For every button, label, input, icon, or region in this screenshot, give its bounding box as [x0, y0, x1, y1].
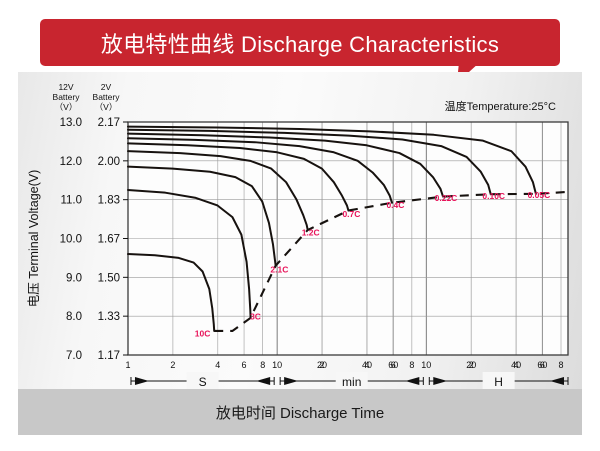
- rate-label-0.4C: 0.4C: [386, 200, 404, 210]
- y-tick-label-2v: 1.67: [98, 234, 120, 246]
- unit-arrow-right: [550, 377, 564, 385]
- y-tick-label-12v: 12.0: [60, 156, 82, 168]
- temperature-annotation: 温度Temperature:25°C: [445, 99, 556, 113]
- y-tick-label-2v: 1.33: [98, 311, 120, 323]
- x-tick-label: 8: [409, 360, 414, 370]
- y-header-2v: 2V: [101, 82, 112, 92]
- y-tick-label-12v: 8.0: [66, 311, 82, 323]
- x-tick-label: 2: [469, 360, 474, 370]
- discharge-chart-svg: 13.02.1712.02.0011.01.8310.01.679.01.508…: [18, 72, 582, 389]
- x-unit-label: S: [199, 375, 207, 389]
- y-header-12v: 12V: [58, 82, 73, 92]
- x-tick-label: 10: [272, 360, 282, 370]
- rate-label-0.10C: 0.10C: [482, 191, 505, 201]
- unit-arrow-right: [405, 377, 419, 385]
- unit-arrow-right: [256, 377, 270, 385]
- y-tick-label-12v: 13.0: [60, 117, 82, 129]
- y-header-2v: Battery: [93, 92, 121, 102]
- x-tick-label: 6: [391, 360, 396, 370]
- y-tick-label-2v: 1.17: [98, 350, 120, 362]
- x-tick-label: 8: [558, 360, 563, 370]
- rate-label-3C: 3C: [250, 311, 261, 321]
- x-tick-label: 10: [421, 360, 431, 370]
- title-banner: 放电特性曲线 Discharge Characteristics: [40, 19, 560, 66]
- unit-arrow-left: [433, 377, 447, 385]
- y-tick-label-2v: 2.00: [98, 156, 120, 168]
- x-unit-label: H: [494, 375, 503, 389]
- unit-arrow-left: [135, 377, 149, 385]
- rate-label-2.1C: 2.1C: [270, 265, 288, 275]
- x-tick-label: 4: [215, 360, 220, 370]
- x-tick-label: 6: [242, 360, 247, 370]
- x-unit-label: min: [342, 375, 361, 389]
- y-tick-label-2v: 1.50: [98, 272, 120, 284]
- y-tick-label-2v: 2.17: [98, 117, 120, 129]
- x-tick-label: 4: [514, 360, 519, 370]
- rate-label-10C: 10C: [195, 328, 211, 338]
- x-tick-label: 6: [540, 360, 545, 370]
- x-axis-title: 放电时间 Discharge Time: [216, 402, 384, 423]
- y-tick-label-12v: 11.0: [60, 195, 82, 207]
- page-title: 放电特性曲线 Discharge Characteristics: [40, 19, 560, 66]
- rate-label-1.2C: 1.2C: [302, 227, 320, 237]
- rate-label-0.22C: 0.22C: [435, 193, 458, 203]
- chart-panel: 13.02.1712.02.0011.01.8310.01.679.01.508…: [18, 72, 582, 389]
- rate-label-0.7C: 0.7C: [342, 209, 360, 219]
- y-tick-label-2v: 1.83: [98, 195, 120, 207]
- y-header-12v: Battery: [53, 92, 81, 102]
- discharge-characteristics-figure: 放电特性曲线 Discharge Characteristics 13.02.1…: [0, 0, 600, 451]
- x-tick-label: 8: [260, 360, 265, 370]
- x-tick-label: 2: [170, 360, 175, 370]
- y-axis-title: 电压 Terminal Voltage(V): [27, 170, 41, 308]
- y-header-2v: （V）: [95, 102, 118, 112]
- x-tick-label: 2: [320, 360, 325, 370]
- y-tick-label-12v: 10.0: [60, 234, 82, 246]
- y-tick-label-12v: 7.0: [66, 350, 82, 362]
- y-tick-label-12v: 9.0: [66, 272, 82, 284]
- x-tick-label: 1: [125, 360, 130, 370]
- x-axis-title-band: 放电时间 Discharge Time: [18, 389, 582, 435]
- rate-label-0.05C: 0.05C: [528, 190, 551, 200]
- y-header-12v: （V）: [55, 102, 78, 112]
- unit-arrow-left: [284, 377, 298, 385]
- x-tick-label: 4: [364, 360, 369, 370]
